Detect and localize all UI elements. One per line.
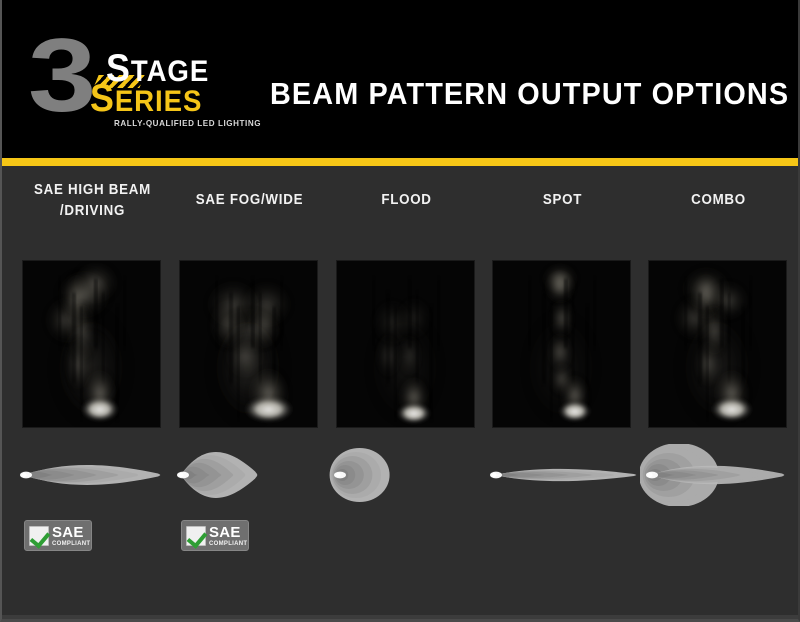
beam-photo-spot bbox=[492, 260, 631, 428]
green-check-icon bbox=[186, 526, 206, 546]
poster-header: 3 STAGE SERIES RALLY-QUALIFIED LED LIGHT… bbox=[2, 0, 800, 158]
accent-divider-bar bbox=[2, 158, 800, 166]
column-label-sae-fog-wide: SAE FOG/WIDE bbox=[185, 190, 315, 211]
logo-series-capital: S bbox=[90, 77, 115, 120]
logo-numeral-3: 3 bbox=[28, 28, 92, 124]
beam-spread-diagram-sae-high-beam-driving bbox=[14, 444, 174, 506]
column-label-spot: SPOT bbox=[498, 190, 628, 211]
column-label-sae-high-beam-driving: SAE HIGH BEAM /DRIVING bbox=[28, 180, 158, 222]
badge-subtitle: COMPLIANT bbox=[52, 541, 90, 547]
beam-spread-diagram-sae-fog-wide bbox=[171, 444, 331, 506]
badge-text: SAE COMPLIANT bbox=[52, 525, 90, 547]
logo-tagline: RALLY-QUALIFIED LED LIGHTING bbox=[114, 118, 261, 128]
badge-subtitle: COMPLIANT bbox=[209, 541, 247, 547]
beam-column-sae-high-beam-driving: SAE HIGH BEAM /DRIVING bbox=[22, 166, 163, 586]
beam-photo-sae-high-beam-driving bbox=[22, 260, 161, 428]
badge-text: SAE COMPLIANT bbox=[209, 525, 247, 547]
beam-photo-combo bbox=[648, 260, 787, 428]
beam-spread-diagram-combo bbox=[640, 444, 800, 506]
beam-spread-diagram-flood bbox=[328, 444, 488, 506]
logo-series-rest: ERIES bbox=[115, 85, 202, 118]
logo-word-stage: STAGE bbox=[106, 54, 209, 87]
green-check-icon bbox=[29, 526, 49, 546]
beam-photo-flood bbox=[336, 260, 475, 428]
badge-title: SAE bbox=[209, 525, 247, 540]
stage-series-logo: 3 STAGE SERIES RALLY-QUALIFIED LED LIGHT… bbox=[28, 28, 238, 130]
beam-column-combo: COMBO bbox=[648, 166, 789, 586]
page-title: BEAM PATTERN OUTPUT OPTIONS bbox=[270, 76, 789, 112]
badge-title: SAE bbox=[52, 525, 90, 540]
beam-column-sae-fog-wide: SAE FOG/WIDE bbox=[179, 166, 320, 586]
bottom-edge-strip bbox=[2, 615, 800, 619]
sae-compliant-badge-sae-fog-wide: SAE COMPLIANT bbox=[181, 520, 249, 551]
beam-column-spot: SPOT bbox=[492, 166, 633, 586]
logo-word-series: SERIES bbox=[90, 84, 202, 117]
beam-spread-diagram-spot bbox=[484, 444, 644, 506]
sae-compliant-badge-sae-high-beam-driving: SAE COMPLIANT bbox=[24, 520, 92, 551]
beam-photo-sae-fog-wide bbox=[179, 260, 318, 428]
beam-pattern-poster: 3 STAGE SERIES RALLY-QUALIFIED LED LIGHT… bbox=[0, 0, 800, 622]
column-label-combo: COMBO bbox=[654, 190, 784, 211]
beam-column-flood: FLOOD bbox=[336, 166, 477, 586]
column-label-flood: FLOOD bbox=[342, 190, 472, 211]
